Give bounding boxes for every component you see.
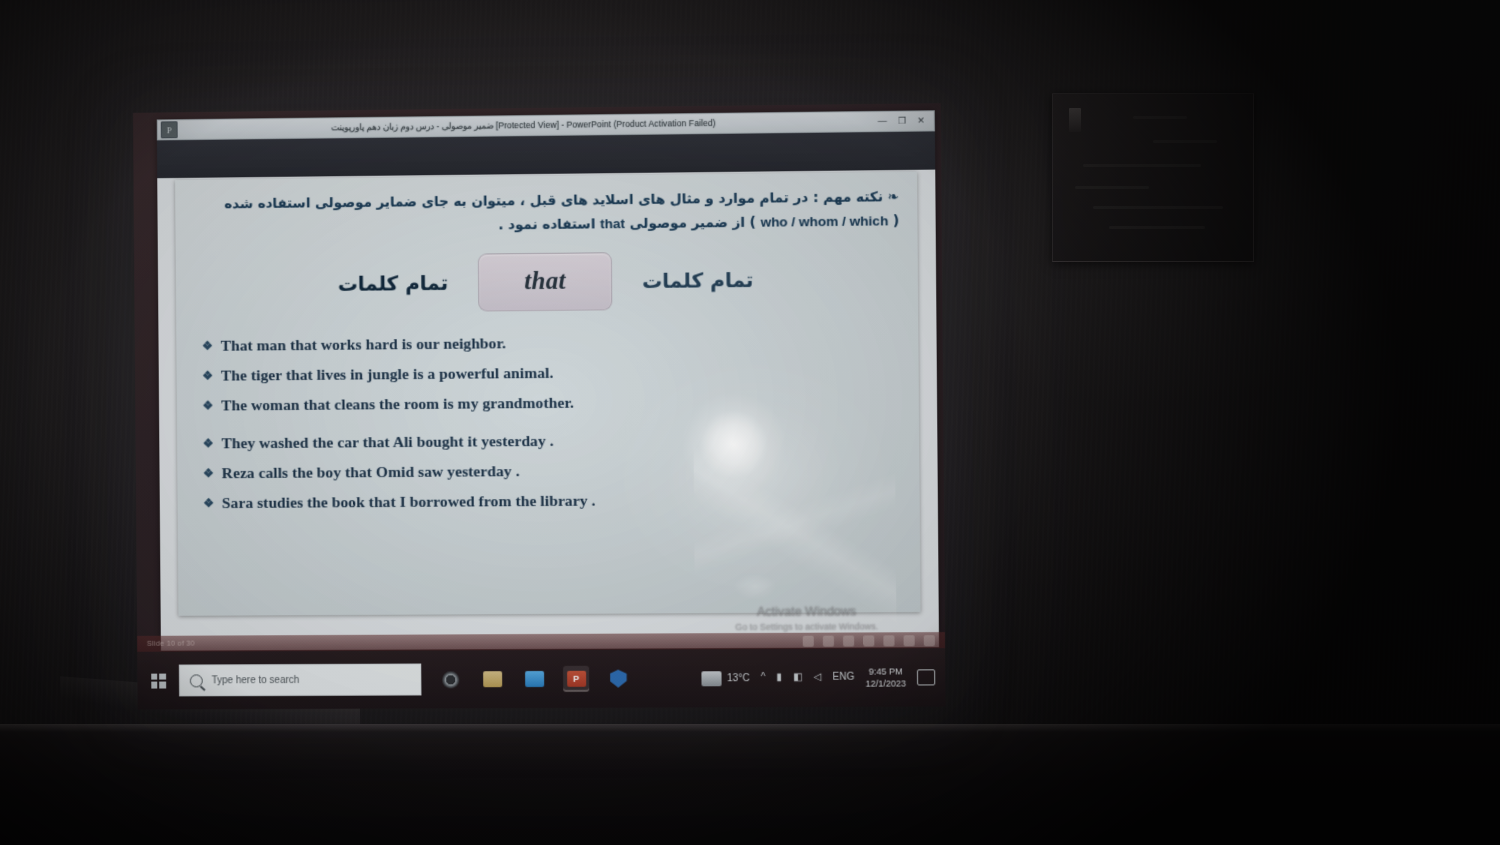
- lower-shelf: [0, 724, 1500, 845]
- list-item: ❖ The tiger that lives in jungle is a po…: [202, 362, 894, 386]
- clock-date: 12/1/2023: [865, 677, 906, 689]
- wall-notice-line: [1109, 226, 1205, 229]
- all-words-label-right: تمام کلمات: [642, 267, 754, 292]
- shield-icon: [610, 670, 627, 688]
- list-item: ❖ That man that works hard is our neighb…: [202, 331, 894, 355]
- window-title-ltr: [Protected View] - PowerPoint (Product A…: [496, 118, 716, 131]
- slide-heading-line1: ❧ نکته مهم : در تمام موارد و مثال های اس…: [224, 189, 899, 212]
- heading-paren-open: (: [888, 213, 899, 229]
- wall-notice-line: [1153, 140, 1217, 143]
- list-item-text: The tiger that lives in jungle is a powe…: [221, 364, 554, 385]
- that-keyword-box: that: [478, 252, 612, 311]
- heading-that-word: that: [600, 216, 625, 231]
- network-icon[interactable]: ▮: [776, 673, 782, 683]
- list-item: ❖ Reza calls the boy that Omid saw yeste…: [203, 460, 895, 483]
- taskbar-upper-strip: Slide 10 of 30: [137, 632, 945, 652]
- battery-icon[interactable]: ◧: [793, 673, 803, 683]
- search-placeholder: Type here to search: [212, 675, 300, 686]
- heading-tail-text: استفاده نمود .: [498, 217, 600, 234]
- heading-relative-pronouns: who / whom / which: [761, 214, 889, 230]
- list-item-text: They washed the car that Ali bought it y…: [221, 432, 553, 452]
- wall-notice-line: [1093, 206, 1223, 209]
- taskbar-item-security[interactable]: [605, 666, 631, 692]
- tray-overflow-icon[interactable]: [904, 635, 915, 646]
- projected-screen: P ضمیر موصولی - درس دوم زبان دهم پاورپوی…: [133, 103, 946, 709]
- wall-notice-frame: [1052, 93, 1254, 262]
- heading-mid-text: ) از ضمیر موصولی: [625, 215, 761, 232]
- system-tray[interactable]: 13°C ^ ▮ ◧ ◁ ENG 9:45 PM 12/1/2023: [701, 665, 945, 690]
- tray-overflow-icon[interactable]: [863, 635, 874, 646]
- windows-logo-icon: [151, 673, 166, 688]
- list-item-text: Sara studies the book that I borrowed fr…: [222, 492, 596, 512]
- tray-overflow-icon[interactable]: [883, 635, 894, 646]
- slide-heading-line2: ( who / whom / which ) از ضمیر موصولی th…: [189, 210, 899, 240]
- all-words-label-left: تمام کلمات: [338, 270, 449, 295]
- shelf-highlight-edge: [0, 724, 1500, 732]
- bullet-diamond-icon: ❖: [202, 338, 213, 353]
- windows-desktop: P ضمیر موصولی - درس دوم زبان دهم پاورپوی…: [133, 103, 946, 709]
- slide-heading: ❧ نکته مهم : در تمام موارد و مثال های اس…: [175, 172, 917, 240]
- weather-temperature: 13°C: [727, 673, 750, 684]
- search-icon: [190, 674, 203, 687]
- window-title-rtl: ضمیر موصولی - درس دوم زبان دهم پاورپوینت: [331, 121, 493, 133]
- show-hidden-icons-chevron-icon[interactable]: ^: [761, 673, 766, 683]
- search-input[interactable]: Type here to search: [179, 664, 422, 697]
- bullet-diamond-icon: ❖: [203, 436, 214, 451]
- restore-button[interactable]: ❐: [898, 117, 906, 126]
- bullet-diamond-icon: ❖: [202, 368, 213, 383]
- bullet-group-one: ❖ That man that works hard is our neighb…: [202, 331, 895, 415]
- that-keyword-text: that: [524, 267, 566, 295]
- volume-icon[interactable]: ◁: [814, 673, 822, 683]
- list-item: ❖ The woman that cleans the room is my g…: [203, 392, 895, 415]
- list-item-text: That man that works hard is our neighbor…: [221, 335, 506, 355]
- bullet-group-two: ❖ They washed the car that Ali bought it…: [203, 430, 896, 513]
- slide-status-tag: Slide 10 of 30: [147, 640, 195, 647]
- list-item-text: Reza calls the boy that Omid saw yesterd…: [222, 463, 520, 483]
- powerpoint-window[interactable]: P ضمیر موصولی - درس دوم زبان دهم پاورپوی…: [157, 110, 939, 650]
- slide-bullet-lists: ❖ That man that works hard is our neighb…: [176, 331, 919, 513]
- classroom-projection-photo: P ضمیر موصولی - درس دوم زبان دهم پاورپوی…: [0, 0, 1500, 845]
- mail-icon: [525, 671, 544, 687]
- wall-notice-line: [1083, 164, 1201, 167]
- weather-icon: [701, 671, 721, 686]
- powerpoint-icon-glyph: P: [167, 125, 172, 135]
- clock-time: 9:45 PM: [865, 665, 906, 677]
- tray-overflow-icon[interactable]: [924, 635, 935, 646]
- language-indicator[interactable]: ENG: [832, 673, 854, 683]
- cortana-icon: [442, 671, 459, 688]
- tray-overflow-icon[interactable]: [803, 635, 814, 646]
- wall-notice-line: [1075, 186, 1149, 189]
- taskbar-app-buttons[interactable]: P: [437, 666, 631, 693]
- wall-notice-line: [1133, 116, 1187, 119]
- action-center-icon[interactable]: [917, 669, 935, 685]
- window-controls[interactable]: — ❐ ✕: [872, 116, 934, 126]
- bullet-diamond-icon: ❖: [203, 466, 214, 481]
- that-diagram-row: تمام کلمات that تمام کلمات: [176, 249, 918, 314]
- taskbar-item-mail[interactable]: [521, 666, 547, 692]
- powerpoint-icon: P: [567, 671, 586, 687]
- taskbar-item-powerpoint[interactable]: P: [563, 666, 589, 692]
- window-title: ضمیر موصولی - درس دوم زبان دهم پاورپوینت…: [178, 116, 872, 135]
- list-item-text: The woman that cleans the room is my gra…: [221, 394, 574, 415]
- close-button[interactable]: ✕: [917, 116, 925, 125]
- list-item: ❖ Sara studies the book that I borrowed …: [203, 490, 895, 513]
- overflow-tray-icons[interactable]: [803, 635, 935, 647]
- weather-widget[interactable]: 13°C: [701, 671, 750, 686]
- list-item: ❖ They washed the car that Ali bought it…: [203, 430, 895, 453]
- taskbar-item-cortana[interactable]: [437, 666, 463, 692]
- slide-canvas[interactable]: ❧ نکته مهم : در تمام موارد و مثال های اس…: [175, 172, 920, 616]
- folder-icon: [483, 671, 502, 687]
- powerpoint-app-icon: P: [161, 121, 178, 138]
- bullet-diamond-icon: ❖: [203, 496, 214, 511]
- windows-taskbar[interactable]: Slide 10 of 30: [137, 648, 945, 709]
- tray-overflow-icon[interactable]: [823, 635, 834, 646]
- tray-overflow-icon[interactable]: [843, 635, 854, 646]
- start-button[interactable]: [137, 673, 179, 688]
- taskbar-clock[interactable]: 9:45 PM 12/1/2023: [865, 665, 906, 690]
- minimize-button[interactable]: —: [878, 117, 887, 126]
- wall-notice-mark: [1069, 108, 1081, 132]
- bullet-diamond-icon: ❖: [203, 398, 214, 413]
- taskbar-item-file-explorer[interactable]: [479, 666, 505, 692]
